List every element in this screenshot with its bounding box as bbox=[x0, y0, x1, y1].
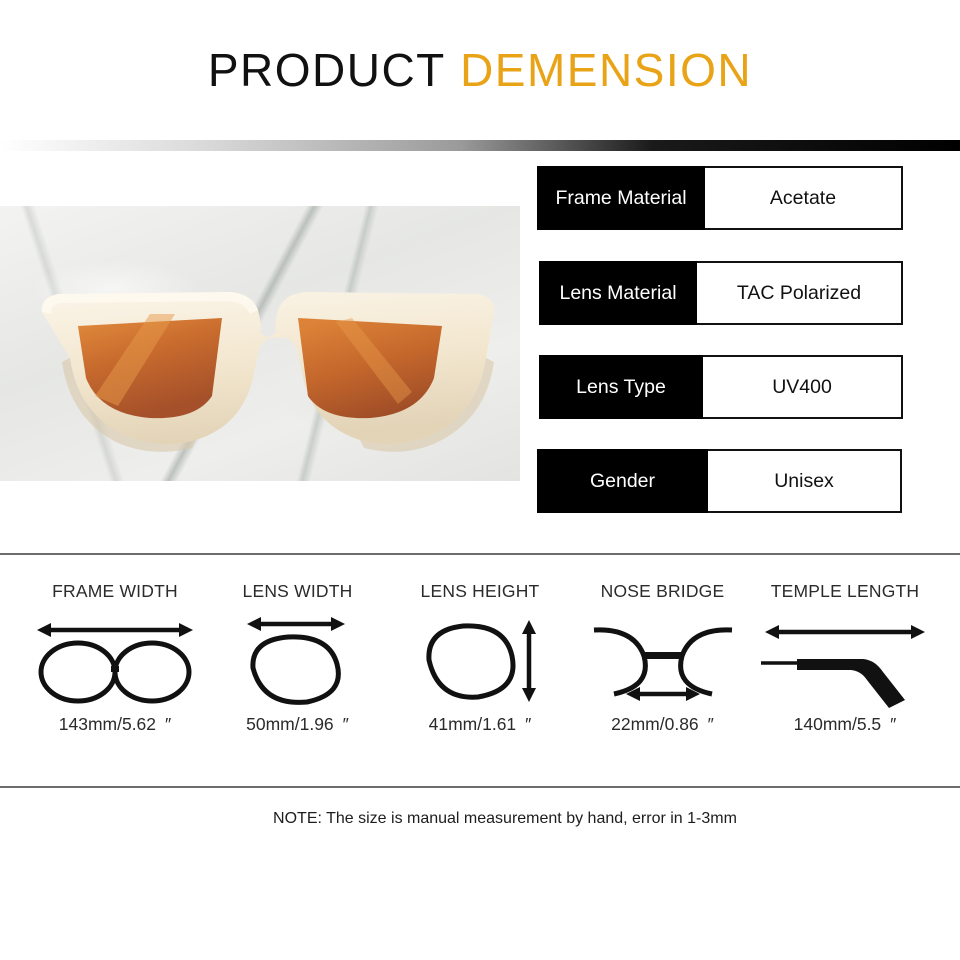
measurement-lens-width: LENS WIDTH 50mm/1.96″ bbox=[209, 581, 387, 735]
page-title-part-1: PRODUCT bbox=[208, 44, 446, 96]
measurement-label-temple-length: TEMPLE LENGTH bbox=[771, 581, 919, 602]
measurement-label-lens-width: LENS WIDTH bbox=[243, 581, 353, 602]
specification-table: Frame Material Acetate Lens Material TAC… bbox=[0, 151, 960, 553]
measurement-label-nose-bridge: NOSE BRIDGE bbox=[601, 581, 725, 602]
product-overview-section: Frame Material Acetate Lens Material TAC… bbox=[0, 151, 960, 553]
measurement-nose-bridge: NOSE BRIDGE 22mm/0.86″ bbox=[574, 581, 752, 735]
measurement-value-temple-length: 140mm/5.5″ bbox=[794, 714, 897, 735]
measurement-value-lens-width: 50mm/1.96″ bbox=[246, 714, 349, 735]
temple-arm-arrow-icon bbox=[759, 608, 931, 712]
page-header: PRODUCT DEMENSION bbox=[0, 0, 960, 140]
measurement-frame-width: FRAME WIDTH bbox=[26, 581, 204, 735]
page-title-part-2: DEMENSION bbox=[460, 44, 752, 96]
spec-key-lens-material: Lens Material bbox=[539, 261, 697, 325]
measurement-label-lens-height: LENS HEIGHT bbox=[421, 581, 540, 602]
spec-value-lens-type: UV400 bbox=[703, 355, 903, 419]
single-lens-horizontal-arrow-icon bbox=[233, 608, 363, 712]
measurement-temple-length: TEMPLE LENGTH 140mm/5.5″ bbox=[756, 581, 934, 735]
measurement-label-frame-width: FRAME WIDTH bbox=[52, 581, 178, 602]
spec-value-lens-material: TAC Polarized bbox=[697, 261, 903, 325]
measurement-value-lens-height: 41mm/1.61″ bbox=[429, 714, 532, 735]
spec-key-frame-material: Frame Material bbox=[537, 166, 705, 230]
nose-bridge-arrow-icon bbox=[588, 608, 738, 712]
header-gradient-divider bbox=[0, 140, 960, 151]
spec-key-lens-type: Lens Type bbox=[539, 355, 703, 419]
spec-row-gender: Gender Unisex bbox=[537, 449, 902, 513]
spec-key-gender: Gender bbox=[537, 449, 708, 513]
single-lens-vertical-arrow-icon bbox=[415, 608, 545, 712]
spec-row-frame-material: Frame Material Acetate bbox=[537, 166, 903, 230]
spec-row-lens-material: Lens Material TAC Polarized bbox=[539, 261, 903, 325]
spec-row-lens-type: Lens Type UV400 bbox=[539, 355, 903, 419]
note-section: NOTE: The size is manual measurement by … bbox=[0, 788, 960, 920]
measurement-value-frame-width: 143mm/5.62″ bbox=[59, 714, 171, 735]
spec-value-gender: Unisex bbox=[708, 449, 902, 513]
measurements-section: FRAME WIDTH bbox=[0, 555, 960, 786]
spec-value-frame-material: Acetate bbox=[705, 166, 903, 230]
measurement-value-nose-bridge: 22mm/0.86″ bbox=[611, 714, 714, 735]
measurements-row: FRAME WIDTH bbox=[0, 581, 960, 735]
page-title: PRODUCT DEMENSION bbox=[208, 43, 752, 97]
two-lenses-horizontal-arrow-icon bbox=[31, 608, 199, 712]
measurement-lens-height: LENS HEIGHT 41mm/1.61″ bbox=[391, 581, 569, 735]
note-text: NOTE: The size is manual measurement by … bbox=[273, 810, 737, 828]
